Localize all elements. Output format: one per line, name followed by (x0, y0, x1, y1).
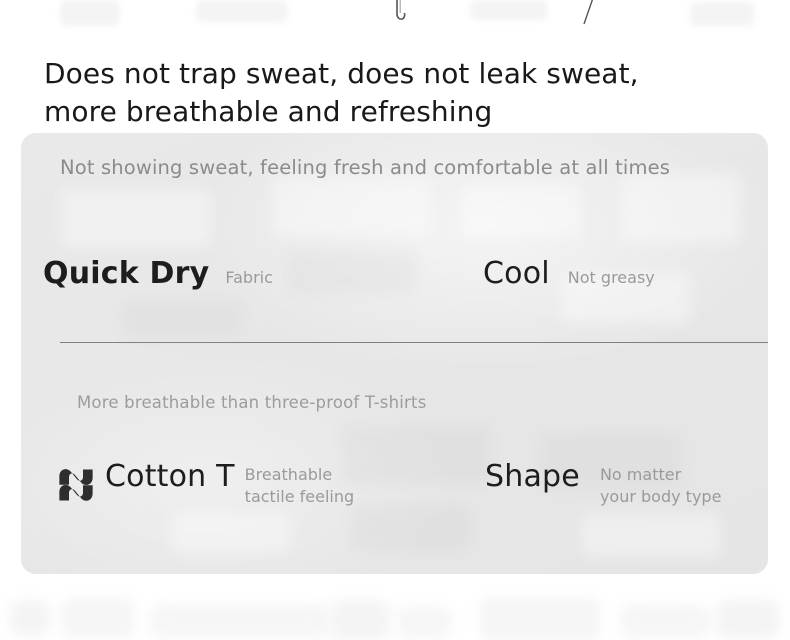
bg-blur-blob (480, 598, 600, 640)
page-heading: Does not trap sweat, does not leak sweat… (44, 55, 744, 131)
feature-row-top: Quick Dry Fabric Cool Not greasy (21, 257, 768, 291)
feature-cotton-t: Cotton T Breathable tactile feeling (55, 458, 485, 508)
bg-blur-blob (60, 0, 120, 26)
bg-blur-blob (62, 598, 134, 638)
card-section-label: More breathable than three-proof T-shirt… (77, 392, 427, 414)
feature-desc: Fabric (225, 267, 273, 288)
feature-shape: Shape No matter your body type (485, 458, 765, 508)
feature-row-bottom: Cotton T Breathable tactile feeling Shap… (21, 458, 768, 508)
card-divider (60, 342, 768, 343)
feature-cool: Cool Not greasy (483, 257, 763, 291)
bg-blur-blob (716, 600, 780, 638)
feature-desc: Breathable tactile feeling (245, 464, 354, 508)
feature-title: Shape (485, 460, 580, 494)
bg-blur-blob (620, 604, 710, 638)
feature-card: Not showing sweat, feeling fresh and com… (21, 133, 768, 574)
bg-blur-blob (10, 600, 50, 636)
hanger-hook-icon-right (578, 0, 600, 30)
bg-blur-blob (196, 0, 288, 22)
feature-quick-dry: Quick Dry Fabric (43, 257, 483, 291)
bg-blur-blob (396, 606, 452, 638)
bg-blur-blob (690, 2, 754, 26)
feature-desc: No matter your body type (600, 464, 721, 508)
hanger-hook-icon-left (388, 0, 412, 30)
card-subtitle: Not showing sweat, feeling fresh and com… (60, 155, 670, 181)
feature-title: Cool (483, 257, 550, 291)
feature-title: Quick Dry (43, 257, 209, 291)
double-wave-icon (55, 462, 97, 504)
feature-desc: Not greasy (568, 267, 655, 288)
feature-title: Cotton T (105, 460, 235, 494)
bg-blur-blob (150, 604, 330, 638)
bg-blur-blob (470, 0, 548, 20)
bg-blur-blob (330, 600, 390, 640)
